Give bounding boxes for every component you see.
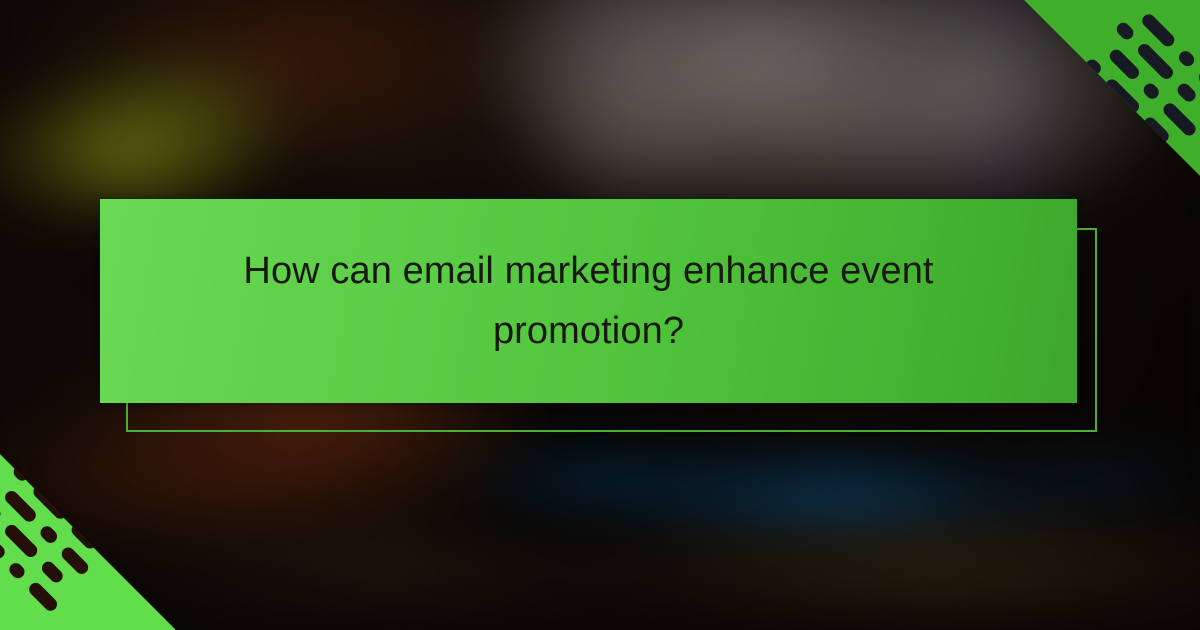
circuit-corner-top-right	[1024, 0, 1200, 176]
promo-card-canvas: How can email marketing enhance event pr…	[0, 0, 1200, 630]
page-title: How can email marketing enhance event pr…	[219, 241, 959, 361]
circuit-corner-bottom-left	[0, 454, 176, 630]
headline-panel: How can email marketing enhance event pr…	[100, 199, 1077, 403]
